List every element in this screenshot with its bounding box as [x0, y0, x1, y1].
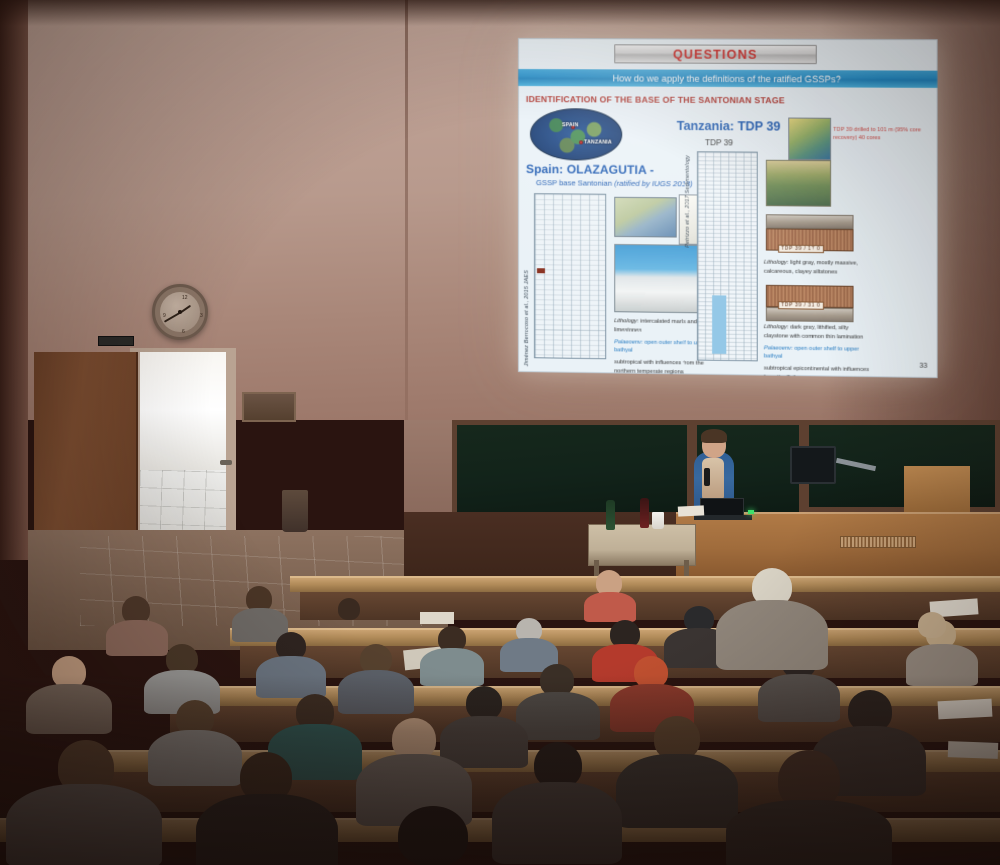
presenter-hair [701, 429, 727, 443]
slide-banner: How do we apply the definitions of the r… [518, 69, 938, 88]
tanzania-section-subtitle: TDP 39 [705, 138, 733, 147]
tanzania-section-title: Tanzania: TDP 39 [677, 119, 781, 134]
audience-head [918, 612, 946, 638]
framed-picture [242, 392, 296, 422]
clock-tick-9: 9 [163, 313, 166, 319]
paleogeographic-globe-icon: SPAIN TANZANIA [530, 108, 622, 161]
audience-shoulders [584, 592, 636, 622]
lectern-vent-grille [840, 536, 916, 548]
tanzania-drill-note: TDP 39 drilled to 101 m (95% core recove… [833, 126, 925, 143]
podium-monitor[interactable] [790, 446, 836, 484]
audience-shoulders [492, 782, 622, 864]
audience-shoulders [256, 656, 326, 698]
presenter-laptop[interactable] [700, 498, 744, 516]
drinking-cup [652, 512, 664, 529]
door-handle[interactable] [220, 460, 232, 465]
tanzania-palaeoenv-label: Palaeoenv: [764, 345, 793, 351]
desk-paper-5 [420, 612, 454, 624]
water-bottle-2 [640, 498, 649, 528]
status-led-icon [748, 510, 754, 514]
clock-face: 12 3 6 9 [160, 292, 200, 332]
spain-ratified-note: (ratified by IUGS 2013) [614, 179, 692, 189]
chalkboard-left [452, 420, 692, 526]
tanzania-stratigraphic-column [697, 151, 758, 361]
clock-center-pin [178, 310, 182, 314]
slide-heading: IDENTIFICATION OF THE BASE OF THE SANTON… [526, 94, 785, 105]
audience-head [466, 686, 502, 720]
front-table [588, 524, 696, 566]
trash-bin [282, 490, 308, 532]
tanzania-citation: Petrizzo et al., 2017 Sedimentology [685, 155, 691, 247]
audience-shoulders [106, 620, 168, 656]
spain-section-subtitle: GSSP base Santonian (ratified by IUGS 20… [536, 178, 693, 188]
desk-paper-3 [948, 741, 999, 759]
podium-papers [678, 505, 704, 516]
globe-label-tanzania: TANZANIA [584, 139, 612, 145]
audience-shoulders [26, 684, 112, 734]
laptop-base [694, 515, 752, 520]
spain-section-title: Spain: OLAZAGUTIA - [526, 162, 654, 177]
ceiling-shadow [0, 0, 1000, 26]
audience-shoulders [148, 730, 242, 786]
wall-clock: 12 3 6 9 [152, 284, 208, 340]
spain-citation: Jiménez Berrocoso et al., 2015 JAES [524, 270, 530, 366]
audience-shoulders [906, 644, 978, 686]
tanzania-upper-lithology-label: Lithology: [764, 260, 789, 266]
audience-head [398, 806, 468, 865]
audience-shoulders [758, 674, 840, 722]
audience-shoulders [196, 794, 338, 865]
audience-shoulders [716, 600, 828, 670]
tanzania-lower-lithology-block: Lithology: dark gray, lithified, silty c… [764, 323, 874, 378]
lecture-hall-scene: 12 3 6 9 QUESTIONS How do we apply the d… [0, 0, 1000, 865]
slide-title: QUESTIONS [673, 47, 758, 61]
lectern [676, 512, 1000, 576]
tanzania-locality-map [788, 118, 831, 161]
spain-locality-map [614, 197, 676, 238]
slide-title-box: QUESTIONS [614, 44, 817, 64]
clock-tick-3: 3 [200, 313, 203, 319]
spain-lithology-label: Lithology: [614, 318, 639, 324]
slide-page-number: 33 [919, 363, 927, 370]
audience-shoulders [616, 754, 738, 828]
microphone-icon [704, 468, 710, 486]
globe-label-spain: SPAIN [562, 122, 579, 128]
clock-tick-6: 6 [182, 329, 185, 335]
spain-stratigraphic-column [534, 193, 606, 359]
spain-palaeoenv-label: Palaeoenv: [614, 339, 643, 345]
globe-marker-tanzania [579, 140, 583, 144]
wall-left-edge [0, 0, 28, 560]
tanzania-lower-lithology-label: Lithology: [764, 324, 789, 330]
tanzania-column-highlight [712, 295, 726, 354]
audience-shoulders [338, 670, 414, 714]
tanzania-core-label-upper: TDP 39 / 17 0 [778, 245, 823, 254]
clock-tick-12: 12 [182, 295, 188, 301]
exit-sign [98, 336, 134, 346]
tanzania-site-photo [766, 160, 831, 207]
tanzania-core-label-lower: TDP 39 / 31 0 [778, 301, 823, 310]
desk-paper-2 [938, 699, 993, 720]
projected-slide: QUESTIONS How do we apply the definition… [518, 38, 938, 378]
audience-shoulders [726, 800, 892, 865]
audience-head [338, 598, 360, 620]
tanzania-upper-lithology-block: Lithology: light gray, mostly massive, c… [764, 259, 870, 278]
audience-shoulders [420, 648, 484, 686]
wall-seam [405, 0, 408, 420]
audience-shoulders [516, 692, 600, 740]
water-bottle-1 [606, 500, 615, 530]
slide-banner-text: How do we apply the definitions of the r… [613, 73, 841, 84]
audience-shoulders [6, 784, 162, 865]
spain-gssp-label: GSSP base Santonian [536, 178, 612, 188]
podium-riser [904, 466, 970, 514]
tanzania-core-strip-upper [766, 214, 854, 229]
desk-row-1 [290, 576, 1000, 592]
